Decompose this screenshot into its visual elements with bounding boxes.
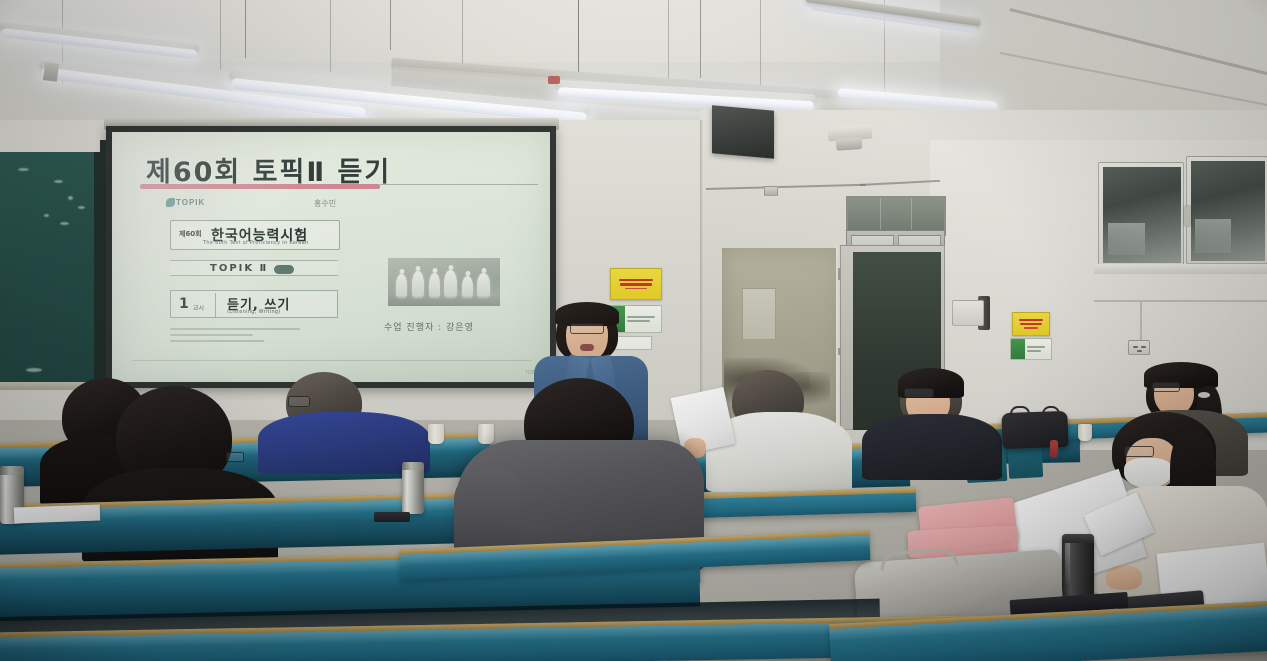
wall-junction-unit bbox=[952, 300, 984, 326]
wall-sign-yellow-right bbox=[1012, 312, 1050, 336]
wall-speaker bbox=[712, 105, 774, 158]
ceiling-seam bbox=[220, 0, 221, 70]
wall-sign-yellow-left bbox=[610, 268, 662, 300]
interior-window-right bbox=[1186, 156, 1267, 264]
hand bbox=[1106, 566, 1142, 590]
glasses-icon bbox=[288, 396, 310, 407]
session-box: 1 교시 듣기, 쓰기 (Listening, Writing) bbox=[170, 290, 338, 318]
handbag-handle bbox=[1010, 406, 1030, 418]
slide-fineprint bbox=[170, 328, 300, 346]
sign-line bbox=[625, 288, 647, 290]
exam-title-english: The 60th Test of Proficiency in Korean bbox=[203, 240, 308, 246]
chalkboard bbox=[0, 152, 100, 387]
sign-line bbox=[620, 283, 651, 286]
light-hanger-wire bbox=[700, 0, 701, 78]
thermos-flask bbox=[402, 462, 424, 514]
topik-level-label: TOPIK Ⅱ bbox=[210, 263, 268, 274]
window-sill bbox=[1094, 264, 1267, 274]
light-hanger-wire bbox=[245, 0, 246, 58]
projection-screen: 제60회 토픽Ⅱ 듣기 TOPIK 홍수민 제60회 한국어능력시험 The 6… bbox=[112, 132, 550, 382]
glasses-icon bbox=[1124, 446, 1154, 457]
glasses-icon bbox=[904, 388, 934, 398]
session-subjects-english: (Listening, Writing) bbox=[227, 309, 281, 315]
topik-logo-text: TOPIK bbox=[176, 198, 205, 207]
face-mask bbox=[1124, 458, 1172, 488]
exam-number: 제60회 bbox=[179, 229, 202, 239]
ceiling-seam bbox=[330, 0, 331, 72]
slide-right-label: 홍수민 bbox=[314, 198, 336, 209]
light-hanger-wire bbox=[578, 0, 579, 72]
wall-panel-recess bbox=[742, 288, 776, 340]
session-unit: 교시 bbox=[193, 303, 204, 312]
wall-groove bbox=[1140, 302, 1142, 342]
ceiling-fitting bbox=[548, 76, 560, 84]
bag-charm bbox=[1050, 440, 1058, 458]
handbag-handle bbox=[1042, 406, 1060, 418]
classroom-photo: 제60회 토픽Ⅱ 듣기 TOPIK 홍수민 제60회 한국어능력시험 The 6… bbox=[0, 0, 1267, 661]
slide-photo-traditional-dance bbox=[388, 258, 500, 306]
light-hanger-wire bbox=[390, 0, 391, 50]
sign-green-icon-panel bbox=[1011, 339, 1025, 359]
slide-bottom-rule bbox=[132, 360, 532, 361]
paper-cup bbox=[478, 424, 494, 444]
student-dark-jacket-body bbox=[862, 414, 1002, 480]
thermos-flask-dark bbox=[1062, 534, 1094, 600]
topik-level-badge bbox=[274, 265, 294, 274]
paper-cup bbox=[1078, 424, 1092, 441]
light-end-cap bbox=[43, 62, 59, 82]
conduit-junction-box bbox=[764, 186, 778, 196]
projector-body bbox=[836, 137, 863, 151]
paper-cup bbox=[428, 424, 444, 444]
glasses-icon bbox=[570, 323, 604, 334]
wall-groove bbox=[1094, 300, 1267, 302]
ceiling-seam bbox=[668, 0, 669, 80]
instructor-mouth bbox=[580, 344, 594, 351]
exam-paper bbox=[14, 505, 101, 524]
book-dark bbox=[374, 512, 410, 522]
topik-level-row: TOPIK Ⅱ bbox=[170, 260, 338, 276]
interior-window-left bbox=[1098, 162, 1184, 266]
wall-corner bbox=[700, 120, 703, 420]
power-outlet[interactable] bbox=[1128, 340, 1150, 355]
window-latch[interactable] bbox=[1184, 206, 1191, 226]
slide-presenter-line: 수업 진행자 : 강은영 bbox=[384, 320, 474, 333]
topik-logo-icon bbox=[166, 198, 175, 207]
wall-sign-green-right bbox=[1010, 338, 1052, 360]
sign-line bbox=[619, 279, 653, 282]
glasses-icon bbox=[1152, 382, 1180, 392]
slide-title-rule bbox=[380, 184, 538, 185]
glasses-icon bbox=[226, 452, 244, 462]
slide-title-underline bbox=[140, 184, 380, 189]
exam-title-box: 제60회 한국어능력시험 The 60th Test of Proficienc… bbox=[170, 220, 340, 250]
session-number: 1 bbox=[179, 296, 189, 312]
ceiling-seam bbox=[760, 0, 761, 86]
